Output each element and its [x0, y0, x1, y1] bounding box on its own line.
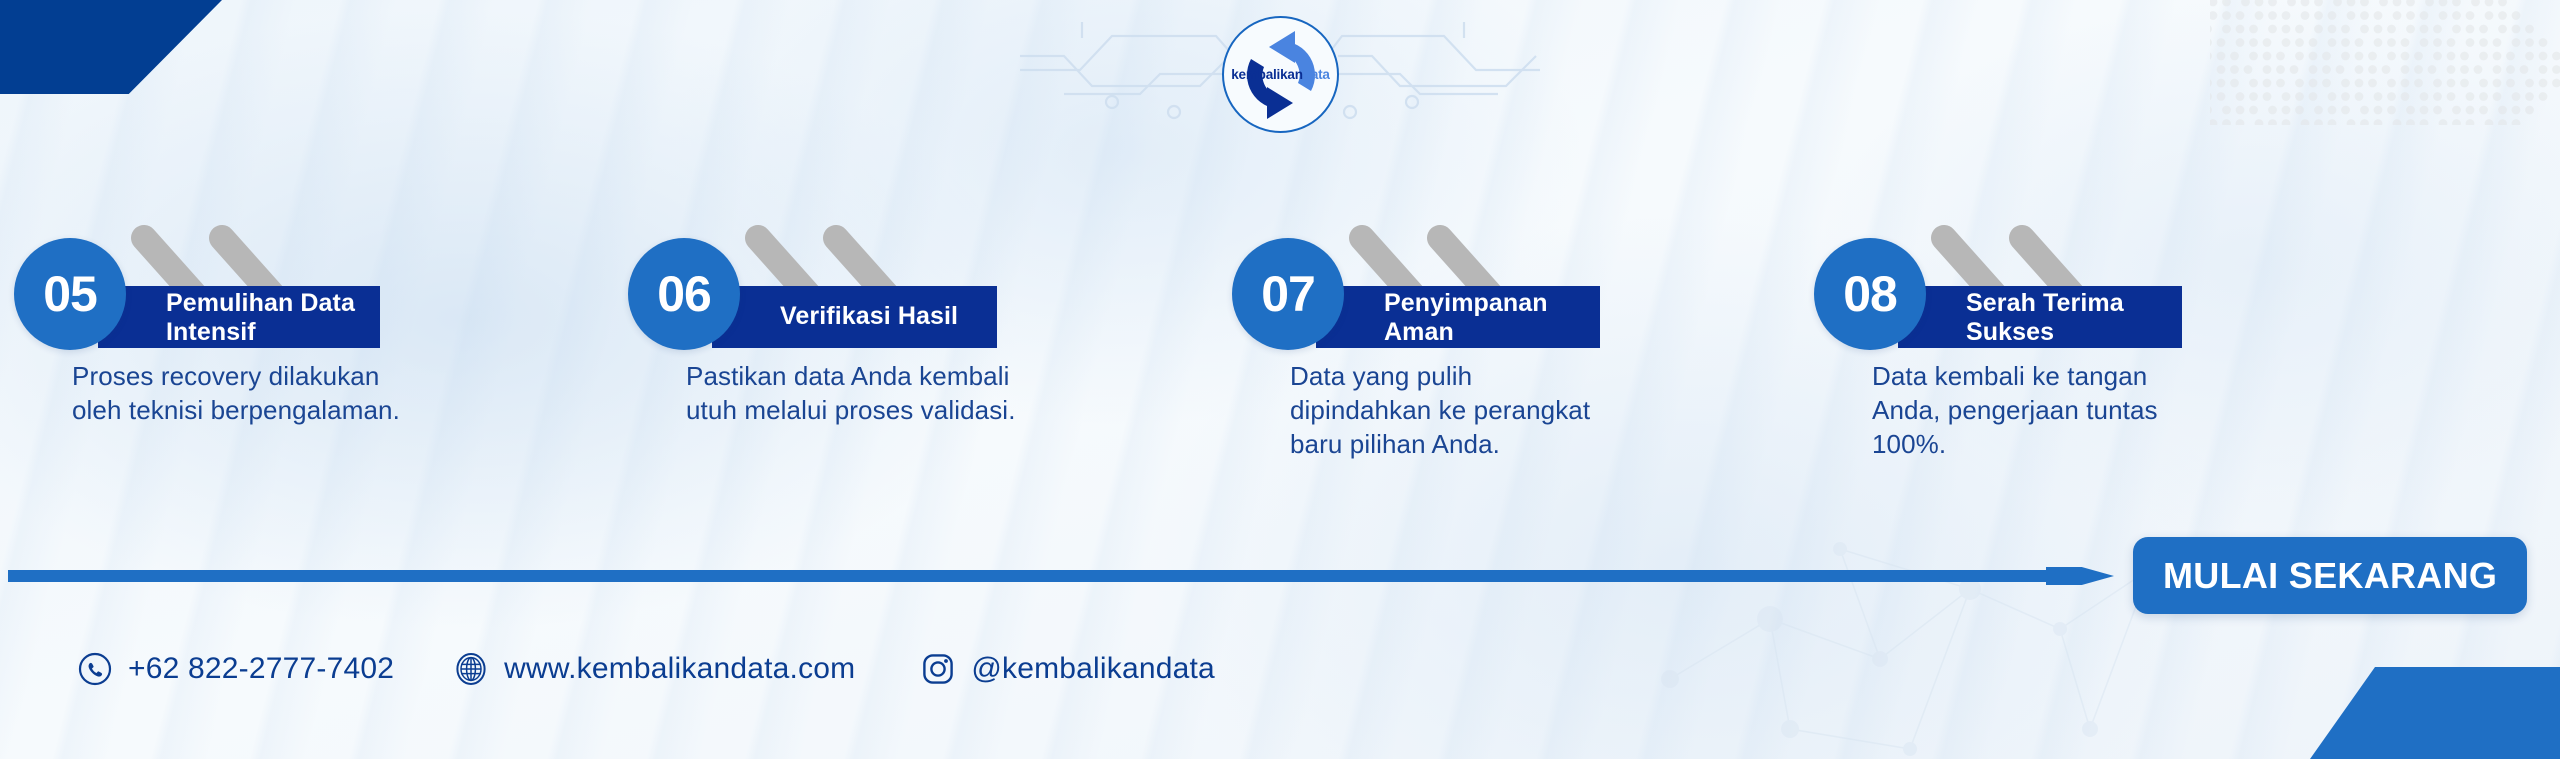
- step-title: Penyimpanan Aman: [1384, 289, 1582, 348]
- footer-website[interactable]: www.kembalikandata.com: [454, 652, 855, 686]
- footer-instagram[interactable]: @kembalikandata: [921, 652, 1215, 686]
- step-number-badge: 08: [1814, 238, 1926, 350]
- step-number: 08: [1843, 269, 1897, 319]
- instagram-icon: [921, 652, 955, 686]
- circular-sync-arrows-icon: [1229, 23, 1333, 127]
- step-card-07: 07 Penyimpanan Aman Data yang pulih dipi…: [1232, 238, 1620, 461]
- phone-icon: [78, 652, 112, 686]
- brand-logo: kembalikandata: [1222, 16, 1339, 133]
- chevron-dot-pattern-icon: [2210, 0, 2560, 125]
- step-number-badge: 07: [1232, 238, 1344, 350]
- step-description: Data kembali ke tangan Anda, pengerjaan …: [1872, 360, 2190, 461]
- step-description: Proses recovery dilakukan oleh teknisi b…: [72, 360, 402, 428]
- step-number: 07: [1261, 269, 1315, 319]
- step-card-06: 06 Verifikasi Hasil Pastikan data Anda k…: [628, 238, 1026, 428]
- step-title-bar: Verifikasi Hasil: [712, 286, 997, 348]
- step-header: 08 Serah Terima Sukses: [1814, 238, 2190, 350]
- step-number-badge: 05: [14, 238, 126, 350]
- globe-icon: [454, 652, 488, 686]
- step-number-badge: 06: [628, 238, 740, 350]
- step-title-bar: Penyimpanan Aman: [1316, 286, 1600, 348]
- step-card-05: 05 Pemulihan Data Intensif Proses recove…: [14, 238, 402, 428]
- footer-phone-text: +62 822-2777-7402: [128, 652, 394, 686]
- footer-website-text: www.kembalikandata.com: [504, 652, 855, 686]
- step-title: Verifikasi Hasil: [780, 302, 958, 332]
- step-description: Pastikan data Anda kembali utuh melalui …: [686, 360, 1026, 428]
- footer-instagram-text: @kembalikandata: [971, 652, 1215, 686]
- step-number: 06: [657, 269, 711, 319]
- step-header: 05 Pemulihan Data Intensif: [14, 238, 402, 350]
- step-card-08: 08 Serah Terima Sukses Data kembali ke t…: [1814, 238, 2190, 461]
- timeline-arrow-icon: [8, 567, 2114, 585]
- mulai-sekarang-button[interactable]: MULAI SEKARANG: [2133, 537, 2527, 614]
- step-header: 06 Verifikasi Hasil: [628, 238, 1026, 350]
- footer-contact-bar: +62 822-2777-7402 www.kembalikandata.com: [78, 652, 1215, 686]
- footer-phone[interactable]: +62 822-2777-7402: [78, 652, 394, 686]
- step-title-bar: Serah Terima Sukses: [1898, 286, 2182, 348]
- step-description: Data yang pulih dipindahkan ke perangkat…: [1290, 360, 1620, 461]
- step-title: Pemulihan Data Intensif: [166, 289, 362, 348]
- step-header: 07 Penyimpanan Aman: [1232, 238, 1620, 350]
- step-title: Serah Terima Sukses: [1966, 289, 2164, 348]
- step-title-bar: Pemulihan Data Intensif: [98, 286, 380, 348]
- cta-label: MULAI SEKARANG: [2163, 555, 2497, 597]
- step-number: 05: [43, 269, 97, 319]
